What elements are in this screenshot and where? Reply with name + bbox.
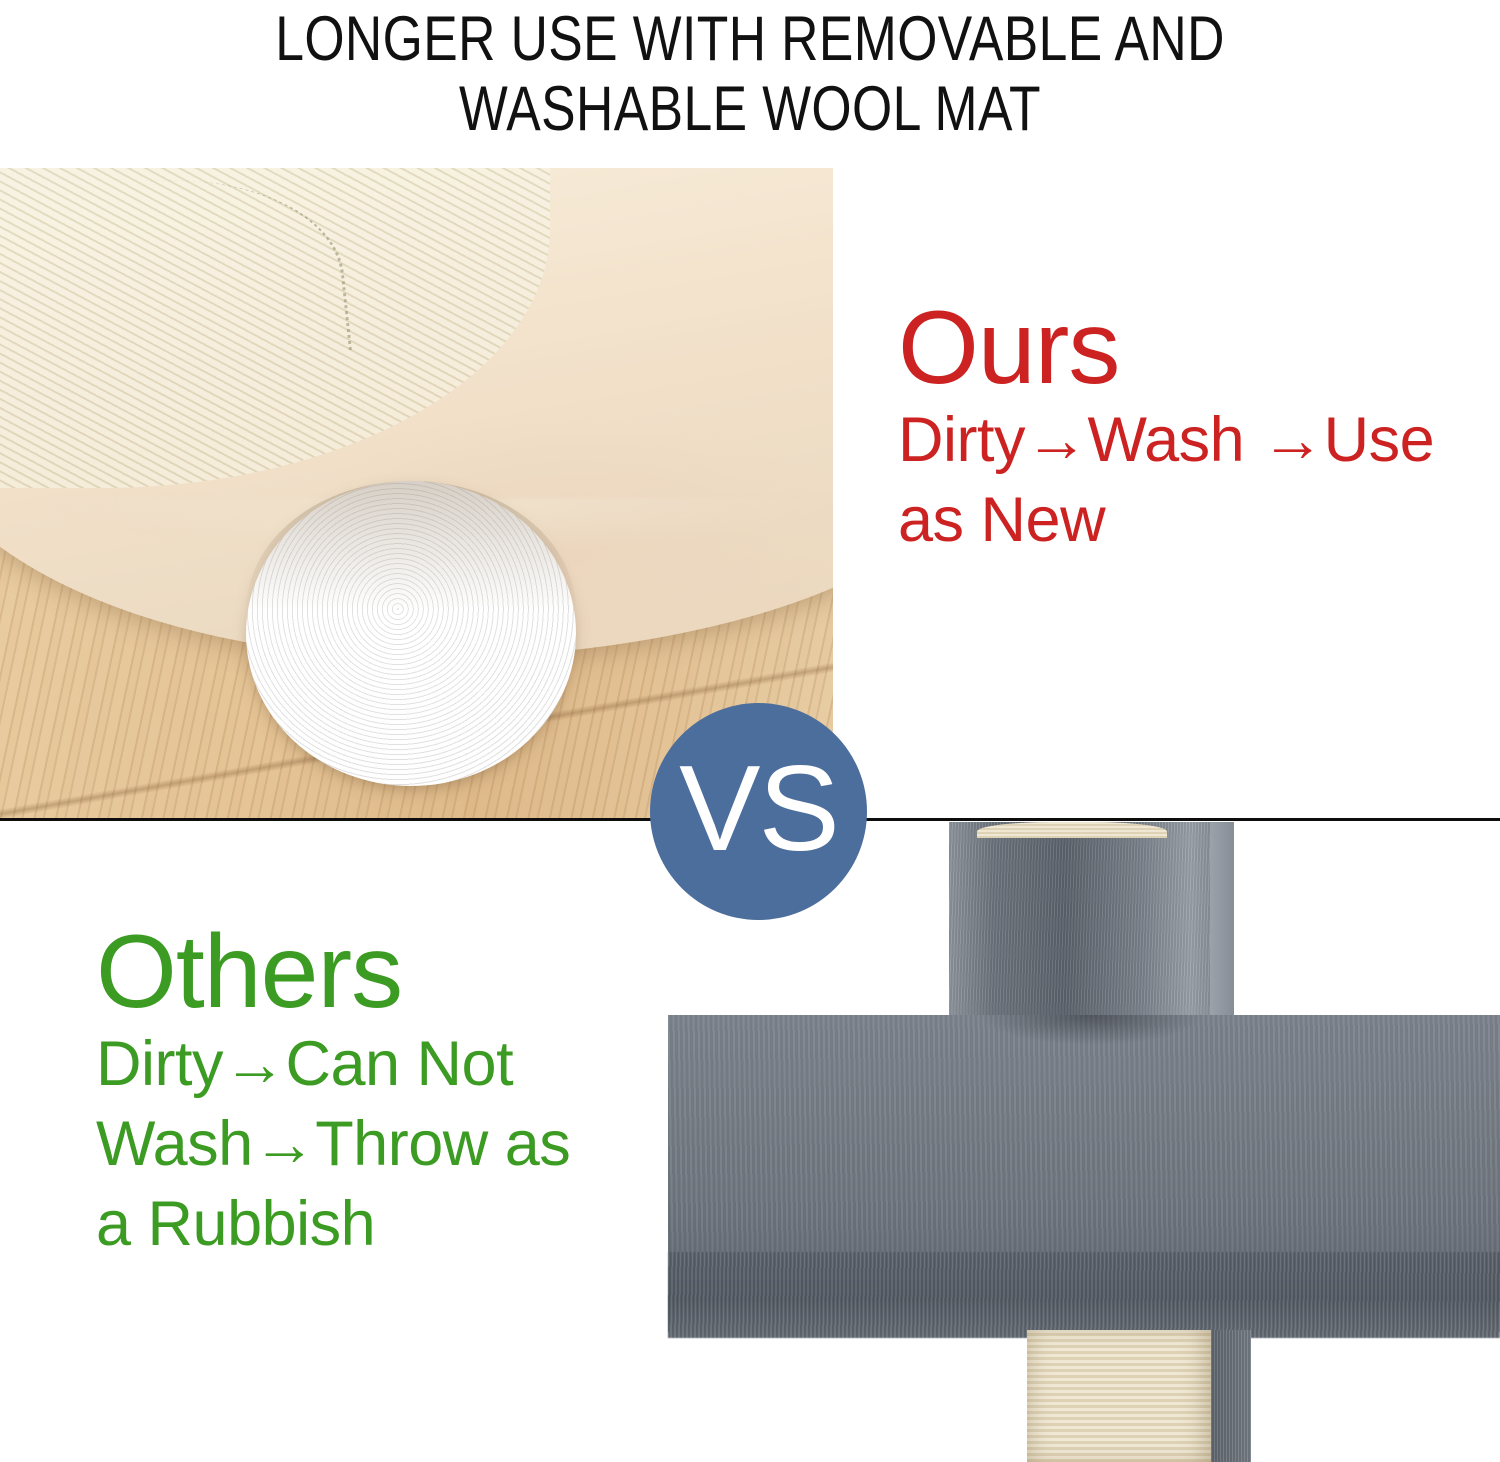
photo-competitor-cat-tree [653,822,1500,1462]
sisal-scratching-post [1027,1330,1213,1462]
ours-caption-block: Ours Dirty→Wash →Use as New [898,296,1458,560]
others-caption-block: Others Dirty→Can Not Wash→Throw as a Rub… [96,920,666,1264]
versus-badge-label: VS [679,747,838,869]
page-title: LONGER USE WITH REMOVABLE AND WASHABLE W… [135,4,1365,144]
product-comparison-infographic: LONGER USE WITH REMOVABLE AND WASHABLE W… [0,0,1500,1462]
ours-description: Dirty→Wash →Use as New [898,400,1458,560]
versus-badge: VS [650,703,867,920]
sisal-post-cap [977,822,1167,838]
plush-side-post [1211,1330,1251,1462]
others-heading: Others [96,920,666,1024]
others-description: Dirty→Can Not Wash→Throw as a Rubbish [96,1024,666,1264]
platform-contact-shadow [949,1015,1234,1073]
plush-post-upper-edge [1210,822,1234,1046]
ours-heading: Ours [898,296,1458,400]
plush-post-upper [949,822,1224,1046]
plush-platform-front-lip [668,1252,1500,1338]
